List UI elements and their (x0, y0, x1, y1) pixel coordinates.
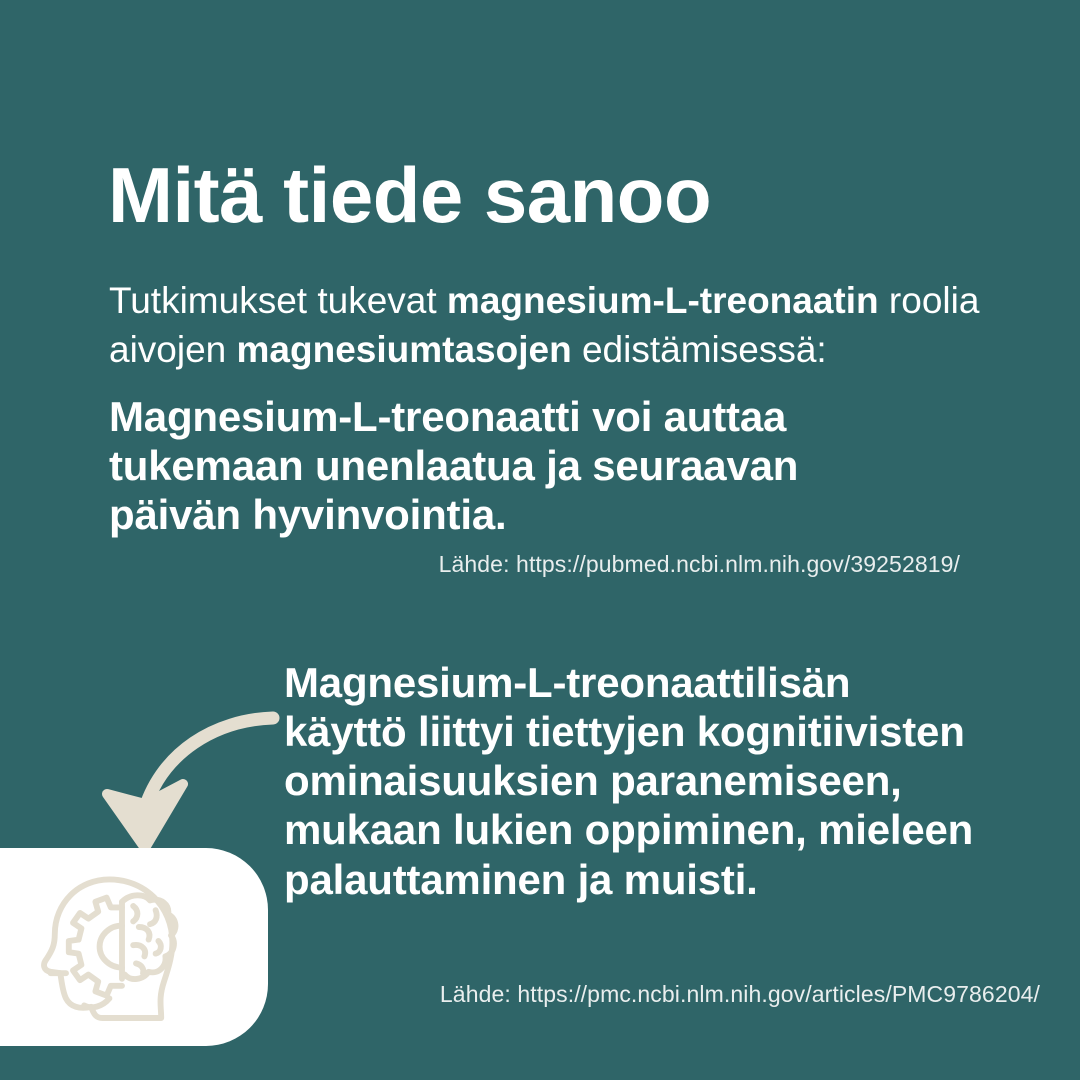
infographic-canvas: Mitä tiede sanoo Tutkimukset tukevat mag… (0, 0, 1080, 1080)
intro-bold-1: magnesium-L-treonaatin (447, 280, 879, 321)
intro-paragraph: Tutkimukset tukevat magnesium-L-treonaat… (109, 277, 1009, 375)
intro-bold-2: magnesiumtasojen (237, 329, 572, 370)
intro-text-1: Tutkimukset tukevat (109, 280, 447, 321)
page-title: Mitä tiede sanoo (108, 156, 711, 234)
claim-source-1: Lähde: https://pubmed.ncbi.nlm.nih.gov/3… (300, 551, 960, 578)
claim-statement-1: Magnesium-L-treonaatti voi auttaa tukema… (109, 392, 939, 539)
brain-head-gear-icon (38, 864, 206, 1032)
claim-statement-2: Magnesium-L-treonaattilisän käyttö liitt… (284, 658, 984, 904)
claim-source-2: Lähde: https://pmc.ncbi.nlm.nih.gov/arti… (300, 981, 1040, 1008)
intro-text-3: edistämisessä: (572, 329, 827, 370)
icon-card (0, 848, 268, 1046)
curved-down-arrow-icon (95, 690, 280, 855)
